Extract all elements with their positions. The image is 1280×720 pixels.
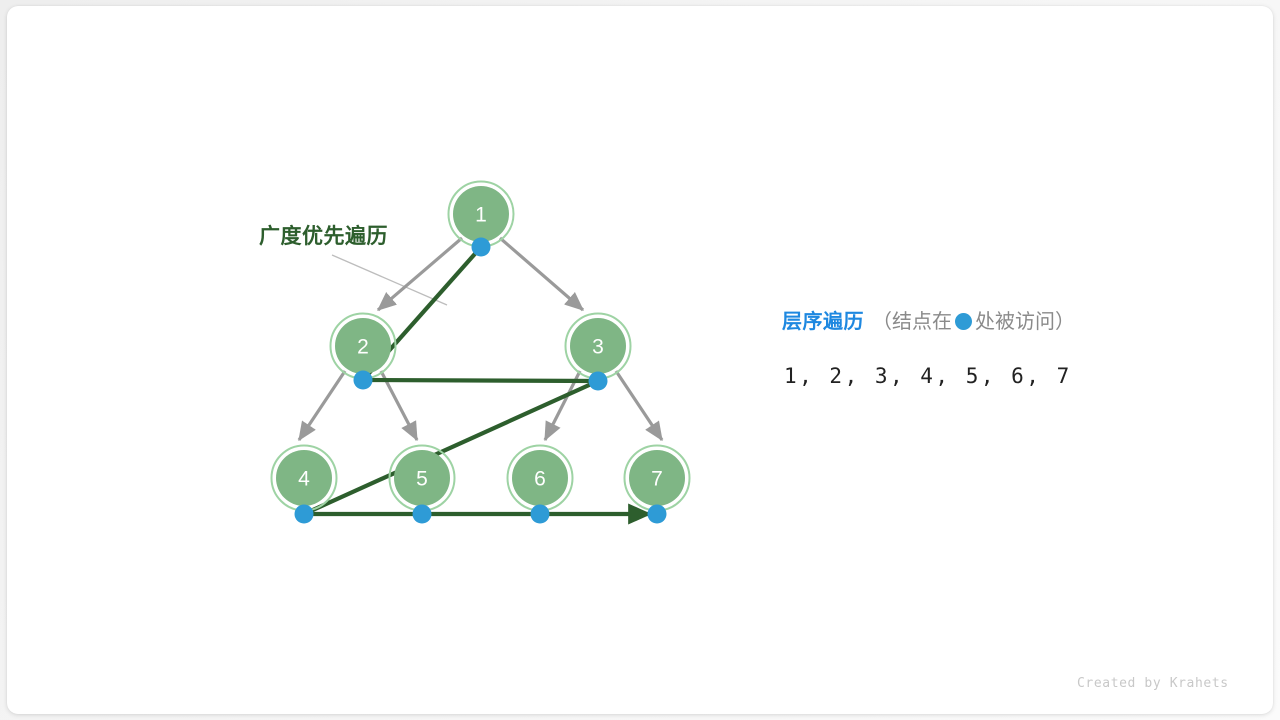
- visit-dot-6[interactable]: [531, 505, 550, 524]
- node-label: 2: [357, 336, 369, 359]
- figure-canvas: 1 2 3 4 5: [0, 0, 1280, 720]
- path-2-3: [363, 380, 598, 381]
- tree-node-5[interactable]: 5: [390, 446, 455, 511]
- tree-edge-2-4: [299, 371, 345, 440]
- node-label: 7: [651, 468, 663, 491]
- tree-node-4[interactable]: 4: [272, 446, 337, 511]
- node-label: 6: [534, 468, 546, 491]
- tree-edge-1-3: [500, 238, 583, 310]
- binary-tree-diagram: 1 2 3 4 5: [0, 0, 1280, 720]
- visit-dot-5[interactable]: [413, 505, 432, 524]
- tree-edge-3-7: [616, 371, 662, 440]
- visit-dot-3[interactable]: [589, 372, 608, 391]
- visit-dot-2[interactable]: [354, 371, 373, 390]
- node-label: 5: [416, 468, 428, 491]
- node-label: 3: [592, 336, 604, 359]
- tree-node-7[interactable]: 7: [625, 446, 690, 511]
- visit-dot-7[interactable]: [648, 505, 667, 524]
- tree-nodes: 1 2 3 4 5: [272, 182, 690, 511]
- tree-node-1[interactable]: 1: [449, 182, 514, 247]
- visit-dot-4[interactable]: [295, 505, 314, 524]
- visit-dot-1[interactable]: [472, 238, 491, 257]
- tree-node-2[interactable]: 2: [331, 314, 396, 379]
- tree-node-3[interactable]: 3: [566, 314, 631, 379]
- tree-edge-1-2: [378, 238, 462, 310]
- leader-line: [332, 255, 447, 305]
- node-label: 1: [475, 204, 487, 227]
- node-label: 4: [298, 468, 310, 491]
- tree-node-6[interactable]: 6: [508, 446, 573, 511]
